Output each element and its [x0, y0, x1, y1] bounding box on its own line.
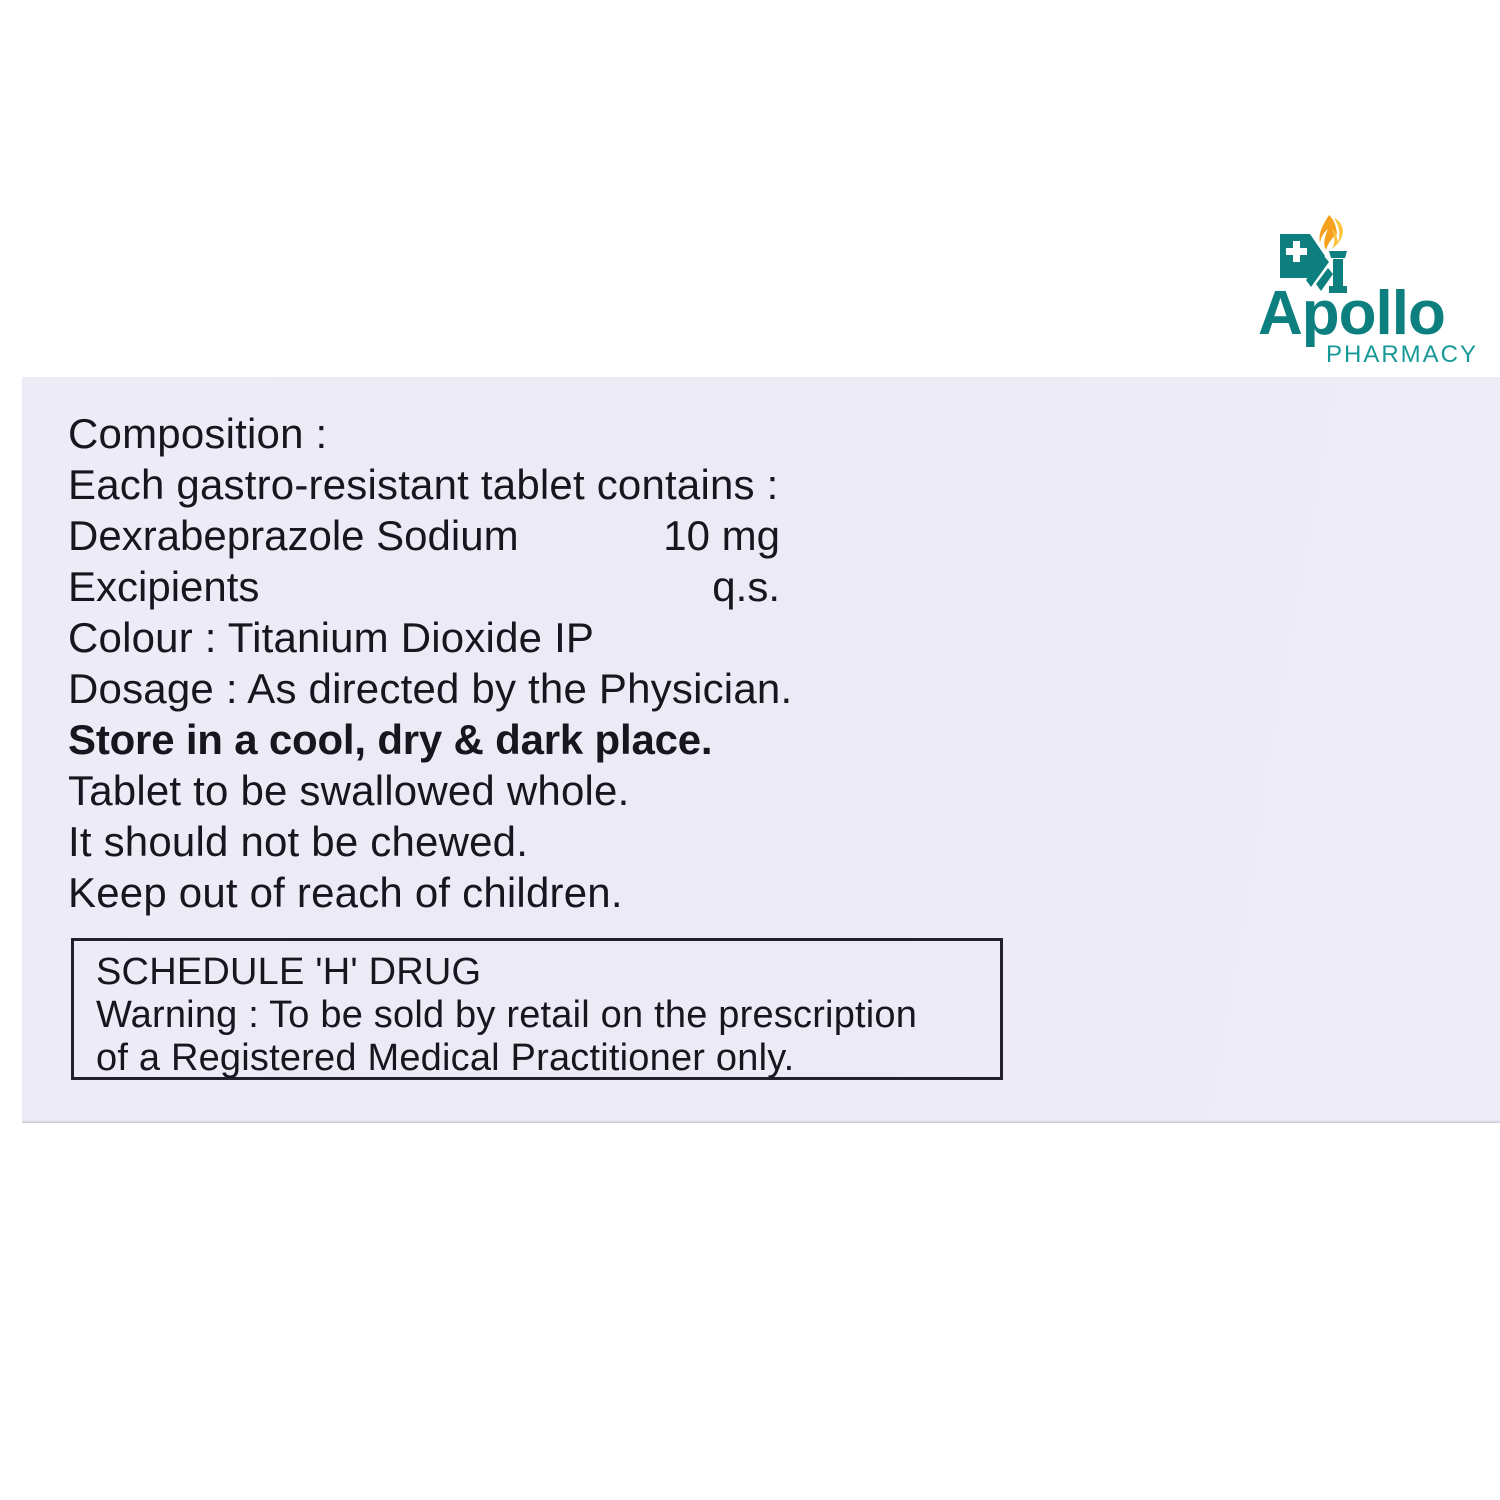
- schedule-h-warning-box: SCHEDULE 'H' DRUG Warning : To be sold b…: [71, 938, 1003, 1080]
- ingredient-amount: 10 mg: [663, 510, 780, 561]
- ingredient-name: Dexrabeprazole Sodium: [68, 510, 519, 561]
- ingredient-row: Dexrabeprazole Sodium 10 mg: [68, 510, 780, 561]
- ingredient-row: Excipients q.s.: [68, 561, 780, 612]
- schedule-h-warning-line-2: of a Registered Medical Practitioner onl…: [96, 1037, 996, 1080]
- instruction-line: Tablet to be swallowed whole.: [68, 765, 1048, 816]
- composition-text-block: Composition : Each gastro-resistant tabl…: [68, 408, 1048, 918]
- ingredient-amount: q.s.: [712, 561, 780, 612]
- brand-sub-wordmark: PHARMACY: [1326, 342, 1478, 368]
- composition-subheading: Each gastro-resistant tablet contains :: [68, 459, 1048, 510]
- composition-heading: Composition :: [68, 408, 1048, 459]
- brand-wordmark: Apollo: [1258, 284, 1468, 344]
- schedule-h-warning-line-1: Warning : To be sold by retail on the pr…: [96, 994, 996, 1037]
- ingredient-name: Excipients: [68, 561, 259, 612]
- dosage-line: Dosage : As directed by the Physician.: [68, 663, 1048, 714]
- storage-line: Store in a cool, dry & dark place.: [68, 714, 1048, 765]
- instruction-line: It should not be chewed.: [68, 816, 1048, 867]
- colour-line: Colour : Titanium Dioxide IP: [68, 612, 1048, 663]
- schedule-h-warning-text: SCHEDULE 'H' DRUG Warning : To be sold b…: [96, 951, 996, 1080]
- schedule-h-title: SCHEDULE 'H' DRUG: [96, 951, 996, 994]
- instruction-line: Keep out of reach of children.: [68, 867, 1048, 918]
- apollo-pharmacy-logo: Apollo PHARMACY: [1258, 212, 1468, 372]
